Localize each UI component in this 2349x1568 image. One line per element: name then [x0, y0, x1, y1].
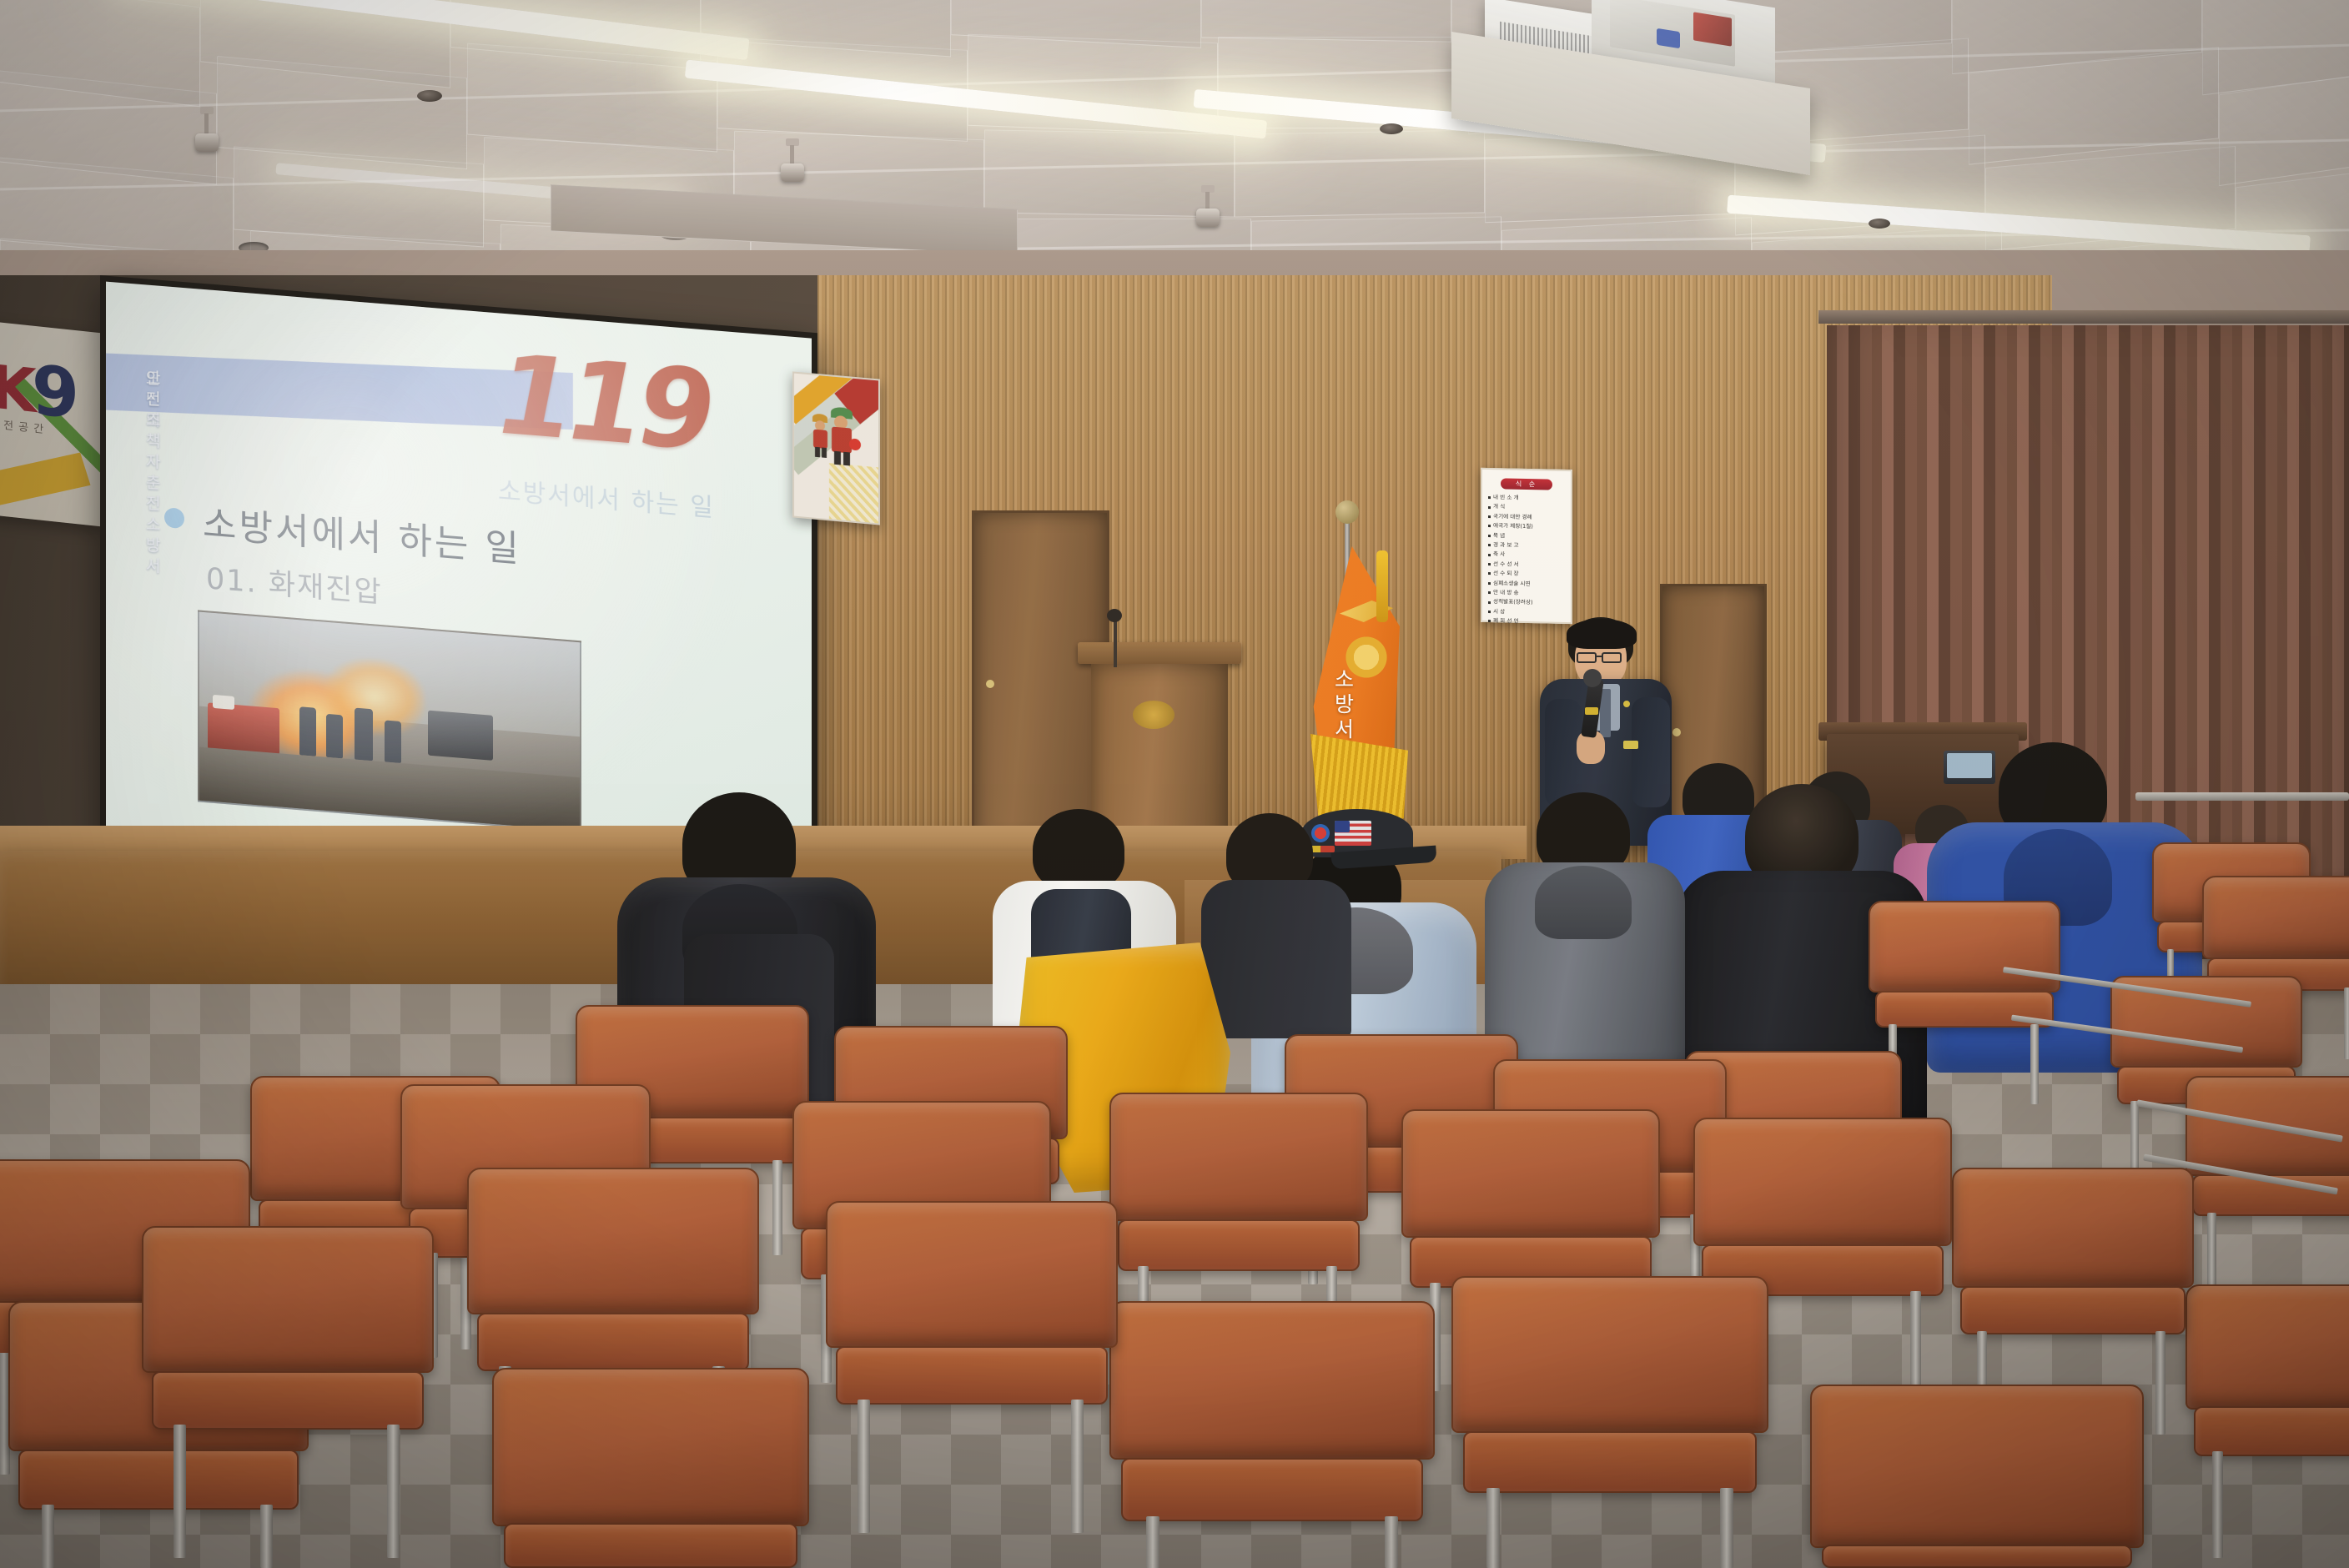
microphone-stand: [1114, 617, 1117, 667]
audience-member: [1201, 813, 1351, 1030]
banner-line-2: 안전조 책자 춘전소방서: [146, 369, 161, 578]
slide-subheading: 01. 화재진압: [206, 555, 383, 611]
chair[interactable]: [492, 1368, 809, 1568]
flag-tassel: [1376, 550, 1388, 622]
flag-text: 소방서: [1335, 667, 1370, 742]
cartoon-firefighter-poster: [792, 371, 880, 525]
ceiling-speaker-1: [417, 90, 442, 102]
microphone-icon: [1107, 609, 1122, 622]
chair[interactable]: [142, 1226, 434, 1560]
slide-119-logo: 119: [498, 339, 708, 466]
chair[interactable]: [1451, 1276, 1768, 1568]
auditorium-photo: K 9 안 전 공 간 도민의 안전조 책자 춘전소방서 119 소방서에서 하…: [0, 0, 2349, 1568]
curtain-rod: [1818, 310, 2349, 324]
program-poster-list: 내 빈 소 개 개 식 국기에 대한 경례 애국가 제창(1절) 묵 념 경 과…: [1486, 493, 1567, 628]
slide-watermark: 소방서에서 하는 일: [498, 470, 715, 524]
ceiling-speaker-3: [1869, 219, 1890, 229]
bullet-dot-icon: [164, 507, 184, 529]
program-poster-header: 식 순: [1501, 478, 1552, 490]
program-poster: 식 순 내 빈 소 개 개 식 국기에 대한 경례 애국가 제창(1절) 묵 념…: [1481, 468, 1572, 624]
chair[interactable]: [2186, 1284, 2349, 1560]
flag-pole-finial: [1335, 500, 1359, 524]
chair[interactable]: [826, 1201, 1118, 1535]
ceiling-projector: [1485, 0, 1802, 133]
chair-frame-rail: [2002, 951, 2269, 1084]
chair[interactable]: [1810, 1385, 2144, 1568]
chair[interactable]: [1109, 1301, 1435, 1568]
ceiling-speaker-2: [1380, 123, 1403, 134]
lectern-emblem: [1133, 701, 1174, 729]
slide-photo-fire-scene: [198, 610, 581, 832]
chair-frame-rail: [2135, 1084, 2349, 1218]
left-wall-poster: K 9 안 전 공 간: [0, 321, 102, 527]
